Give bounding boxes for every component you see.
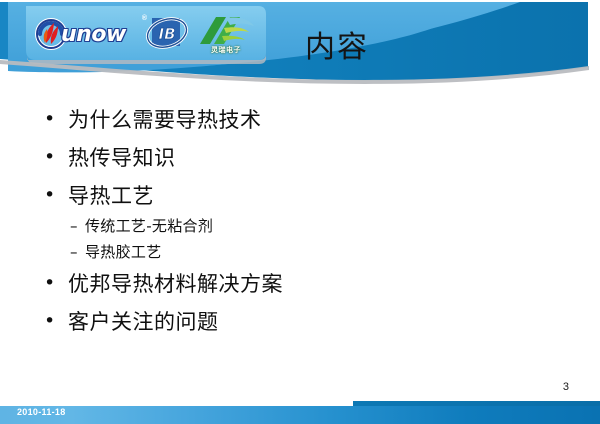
list-item: • 客户关注的问题 <box>44 312 564 333</box>
sub-list-item-label: 导热胶工艺 <box>85 245 162 260</box>
bullet-icon: • <box>44 186 68 206</box>
list-item: • 导热工艺 <box>44 186 564 207</box>
unow-logo: unow ® <box>34 14 138 54</box>
bullet-icon: • <box>44 148 68 168</box>
page-title: 内容 <box>305 30 369 66</box>
list-item-label: 优邦导热材料解决方案 <box>68 274 283 295</box>
dash-icon: – <box>70 245 85 260</box>
footer-date: 2010-11-18 <box>17 407 66 417</box>
footer-band <box>0 406 600 424</box>
list-item: • 为什么需要导热技术 <box>44 110 564 131</box>
list-item: • 优邦导热材料解决方案 <box>44 274 564 295</box>
sub-list-item-label: 传统工艺-无粘合剂 <box>85 219 213 234</box>
list-item-label: 导热工艺 <box>68 186 154 207</box>
slide-body: • 为什么需要导热技术 • 热传导知识 • 导热工艺 – 传统工艺-无粘合剂 –… <box>0 96 600 366</box>
list-item-label: 热传导知识 <box>68 148 176 169</box>
sub-list: – 传统工艺-无粘合剂 – 导热胶工艺 <box>44 219 564 260</box>
logo-bar: unow ® IB <box>26 8 264 60</box>
unow-wordmark: unow <box>61 22 126 47</box>
svg-text:IB: IB <box>158 25 175 43</box>
bullet-list: • 为什么需要导热技术 • 热传导知识 • 导热工艺 – 传统工艺-无粘合剂 –… <box>44 110 564 350</box>
list-item-label: 为什么需要导热技术 <box>68 110 262 131</box>
sub-list-item: – 导热胶工艺 <box>70 245 564 260</box>
bullet-icon: • <box>44 110 68 130</box>
dash-icon: – <box>70 219 85 234</box>
list-item-label: 客户关注的问题 <box>68 312 219 333</box>
slide: unow ® IB <box>0 0 600 424</box>
list-item: • 热传导知识 <box>44 148 564 169</box>
ib-logo: IB <box>144 13 190 55</box>
slide-header: unow ® IB <box>0 0 600 96</box>
page-number: 3 <box>563 381 569 393</box>
green-electronics-logo: 灵瑞电子 <box>196 12 256 56</box>
bullet-icon: • <box>44 274 68 294</box>
sub-list-item: – 传统工艺-无粘合剂 <box>70 219 564 234</box>
bullet-icon: • <box>44 312 68 332</box>
green-logo-chinese-text: 灵瑞电子 <box>196 45 256 55</box>
